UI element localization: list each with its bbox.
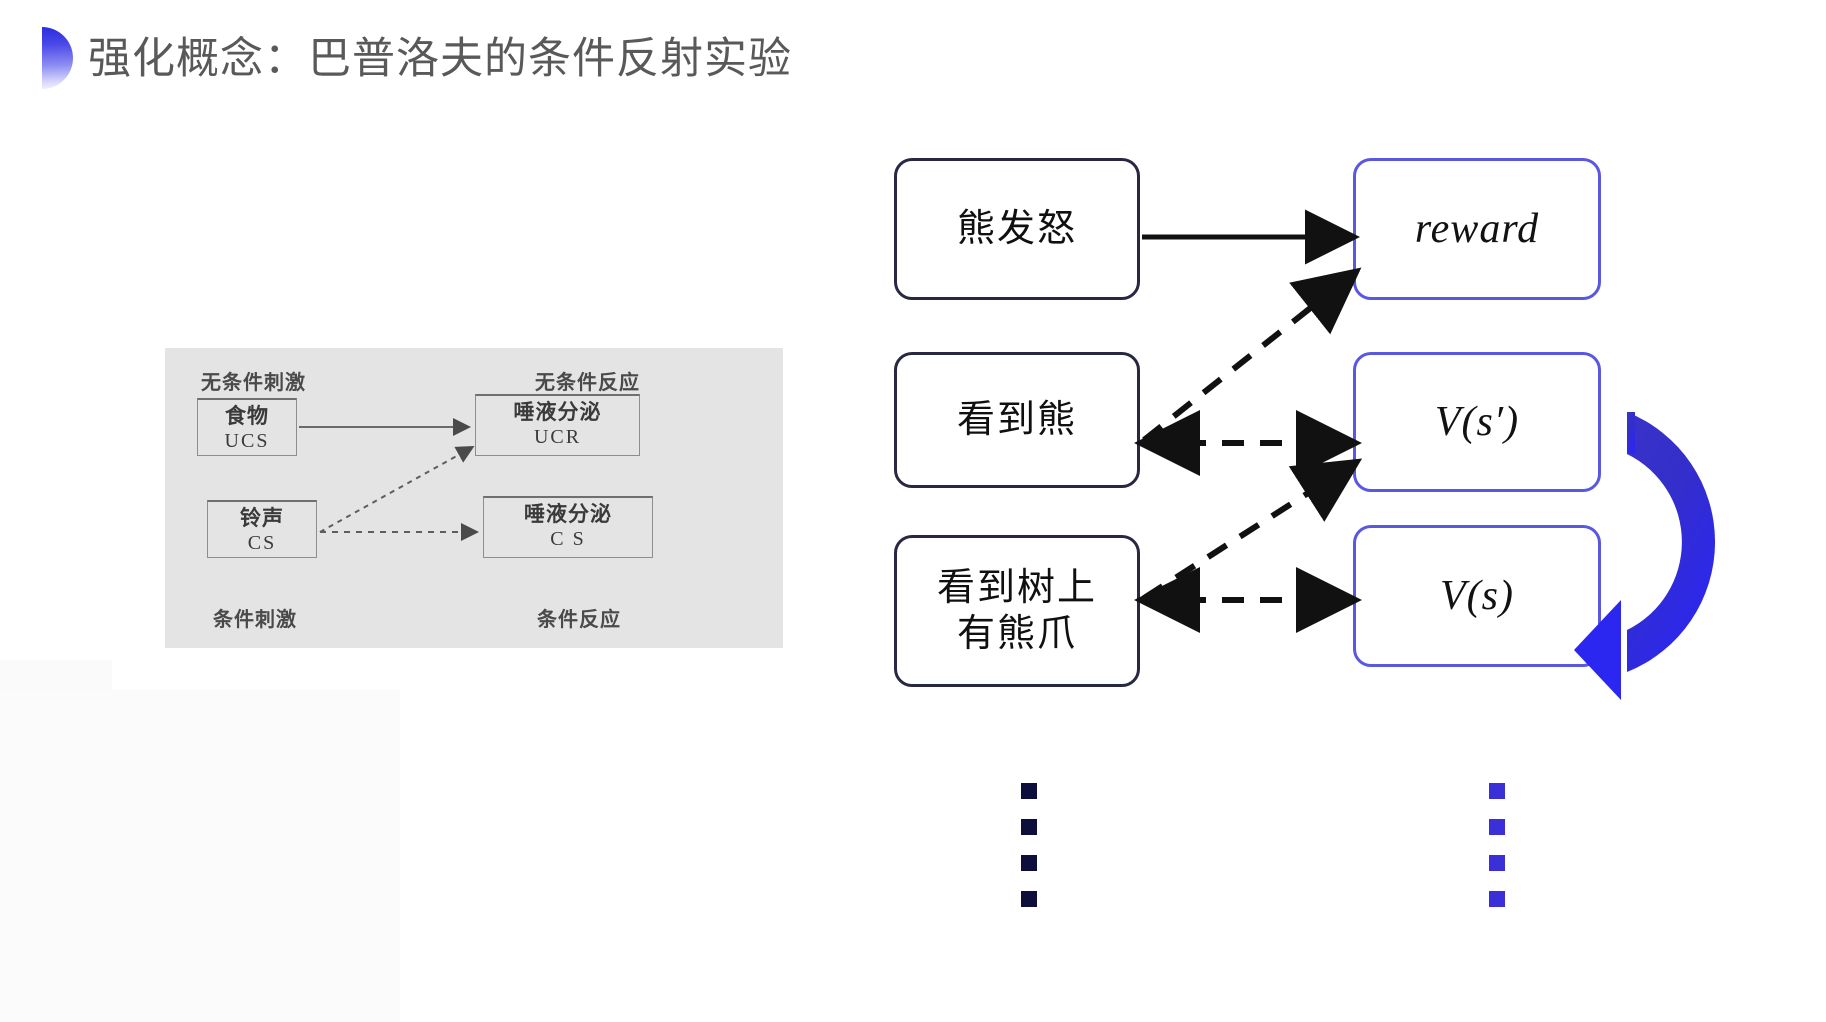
pavlov-box-cr-cn: 唾液分泌 (484, 502, 652, 527)
gradient-teardrop-icon (42, 27, 73, 89)
node-bear-angry[interactable]: 熊发怒 (894, 158, 1140, 300)
pavlov-arrow-cs-ucr (320, 448, 471, 532)
arrow-see-bear-claw-to-value-s-prime (1144, 465, 1352, 598)
node-value-s-prime-label: V(s′) (1435, 398, 1519, 446)
node-see-bear-label: 看到熊 (957, 397, 1077, 443)
arrow-see-bear-to-reward (1144, 275, 1352, 440)
ellipsis-dot (1489, 783, 1505, 799)
pavlov-figure: 无条件刺激 无条件反应 条件刺激 条件反应 食物 UCS 唾液分泌 UCR 铃声… (165, 348, 783, 648)
node-see-bear-claw-label-line1: 看到树上 (937, 567, 1097, 609)
pavlov-box-cs: 铃声 CS (207, 500, 317, 558)
node-reward-label: reward (1415, 205, 1539, 253)
ellipsis-dot (1021, 855, 1037, 871)
slide-canvas: 强化概念：巴普洛夫的条件反射实验 无条件刺激 无条件反应 条件刺激 条件反应 食… (0, 0, 1826, 1022)
pavlov-caption-bottom-left: 条件刺激 (213, 603, 297, 632)
pavlov-box-ucr: 唾液分泌 UCR (475, 394, 640, 456)
ellipsis-dots-left (1021, 783, 1037, 907)
ellipsis-dot (1021, 819, 1037, 835)
node-value-s-label: V(s) (1440, 572, 1514, 620)
pavlov-caption-bottom-right: 条件反应 (537, 603, 621, 632)
node-value-s-prime[interactable]: V(s′) (1353, 352, 1601, 492)
page-title: 强化概念：巴普洛夫的条件反射实验 (88, 28, 792, 90)
node-value-s[interactable]: V(s) (1353, 525, 1601, 667)
ellipsis-dot (1489, 855, 1505, 871)
ellipsis-dot (1489, 891, 1505, 907)
ellipsis-dot (1489, 819, 1505, 835)
node-see-bear[interactable]: 看到熊 (894, 352, 1140, 488)
ellipsis-dot (1021, 891, 1037, 907)
pavlov-box-cs-cn: 铃声 (208, 506, 316, 531)
pavlov-caption-top-left: 无条件刺激 (201, 366, 306, 395)
ellipsis-dot (1021, 783, 1037, 799)
pavlov-caption-top-right: 无条件反应 (535, 366, 640, 395)
background-wash-secondary (0, 690, 400, 1022)
pavlov-box-cr-en: C S (484, 527, 652, 551)
pavlov-box-ucr-cn: 唾液分泌 (476, 400, 639, 425)
pavlov-box-ucs: 食物 UCS (197, 398, 297, 456)
pavlov-box-cr: 唾液分泌 C S (483, 496, 653, 558)
node-see-bear-claw-label-line2: 有熊爪 (957, 613, 1077, 655)
pavlov-box-cs-en: CS (208, 531, 316, 555)
pavlov-box-ucs-en: UCS (198, 429, 296, 453)
node-bear-angry-label: 熊发怒 (957, 206, 1077, 252)
ellipsis-dots-right (1489, 783, 1505, 907)
node-see-bear-claw[interactable]: 看到树上 有熊爪 (894, 535, 1140, 687)
pavlov-box-ucs-cn: 食物 (198, 404, 296, 429)
pavlov-box-ucr-en: UCR (476, 425, 639, 449)
node-reward[interactable]: reward (1353, 158, 1601, 300)
